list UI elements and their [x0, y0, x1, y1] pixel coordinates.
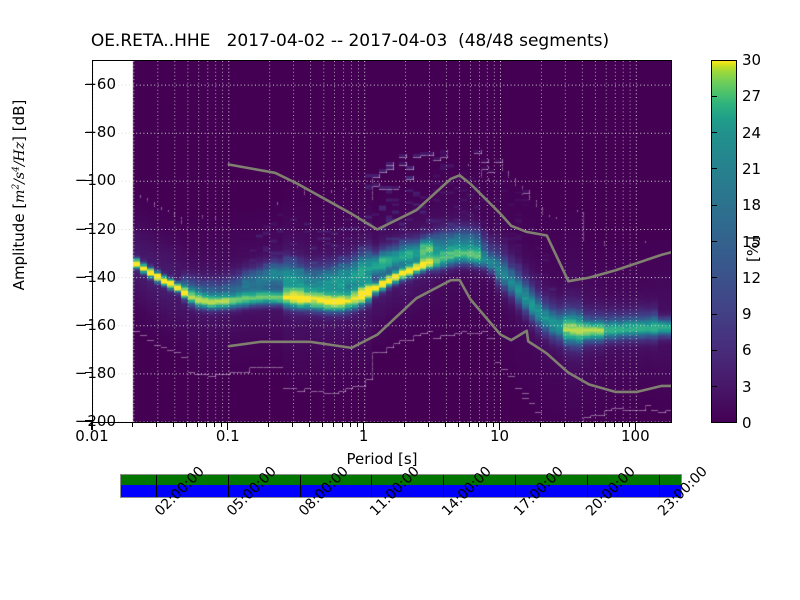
x-minor-tick-mark	[540, 423, 541, 427]
x-minor-tick-mark	[622, 423, 623, 427]
x-minor-tick-mark	[221, 423, 222, 427]
y-tick-mark	[85, 180, 92, 181]
colorbar-tick-mark	[711, 314, 717, 315]
y-tick-mark	[85, 84, 92, 85]
x-minor-tick-mark	[458, 423, 459, 427]
x-minor-tick-mark	[486, 423, 487, 427]
x-minor-tick-mark	[156, 423, 157, 427]
x-axis-label: Period [s]	[92, 450, 672, 468]
y-axis-label-units: m2/s4/Hz	[12, 142, 28, 203]
x-tick-mark	[91, 423, 92, 430]
colorbar-tick-label: 30	[742, 51, 761, 69]
y-tick-label: −120	[75, 220, 116, 238]
x-minor-tick-mark	[322, 423, 323, 427]
colorbar-tick-mark	[711, 132, 717, 133]
timeline-divider	[156, 475, 157, 497]
x-minor-tick-mark	[214, 423, 215, 427]
x-minor-tick-mark	[594, 423, 595, 427]
colorbar-tick-mark	[711, 350, 717, 351]
colorbar-tick-label: 21	[742, 160, 761, 178]
y-tick-label: −160	[75, 316, 116, 334]
timeline-divider	[659, 475, 660, 497]
x-minor-tick-mark	[605, 423, 606, 427]
y-tick-mark	[85, 420, 92, 421]
colorbar-tick-mark	[711, 168, 717, 169]
colorbar-tick-mark	[711, 277, 717, 278]
x-minor-tick-mark	[404, 423, 405, 427]
x-tick-mark	[227, 423, 228, 430]
colorbar-tick-mark	[711, 386, 717, 387]
y-tick-label: −140	[75, 268, 116, 286]
y-axis-label-prefix: Amplitude [	[10, 203, 28, 291]
x-minor-tick-mark	[445, 423, 446, 427]
y-tick-mark	[85, 324, 92, 325]
ppsd-axes	[92, 60, 672, 423]
x-tick-mark	[635, 423, 636, 430]
timeline-divider	[515, 475, 516, 497]
timeline-divider	[443, 475, 444, 497]
x-minor-tick-mark	[350, 423, 351, 427]
y-axis-label-suffix: ] [dB]	[10, 100, 28, 142]
timeline-divider	[228, 475, 229, 497]
x-minor-tick-mark	[342, 423, 343, 427]
figure-title: OE.RETA..HHE 2017-04-02 -- 2017-04-03 (4…	[0, 31, 700, 51]
timeline-divider	[587, 475, 588, 497]
colorbar-tick-label: 9	[742, 305, 752, 323]
y-tick-mark	[85, 132, 92, 133]
colorbar-tick-label: 6	[742, 341, 752, 359]
colorbar-tick-label: 24	[742, 124, 761, 142]
y-axis-label: Amplitude [m2/s4/Hz] [dB]	[10, 45, 28, 345]
x-minor-tick-mark	[309, 423, 310, 427]
timeline-divider	[300, 475, 301, 497]
colorbar-tick-mark	[711, 205, 717, 206]
x-minor-tick-mark	[469, 423, 470, 427]
ppsd-heatmap	[93, 61, 671, 422]
x-minor-tick-mark	[268, 423, 269, 427]
y-tick-mark	[85, 228, 92, 229]
x-minor-tick-mark	[132, 423, 133, 427]
x-minor-tick-mark	[629, 423, 630, 427]
x-minor-tick-mark	[186, 423, 187, 427]
x-tick-mark	[499, 423, 500, 430]
colorbar-tick-label: 27	[742, 87, 761, 105]
x-tick-mark	[363, 423, 364, 430]
colorbar-tick-mark	[711, 241, 717, 242]
x-minor-tick-mark	[614, 423, 615, 427]
x-minor-tick-mark	[173, 423, 174, 427]
y-tick-mark	[85, 372, 92, 373]
x-minor-tick-mark	[292, 423, 293, 427]
x-minor-tick-mark	[493, 423, 494, 427]
ppsd-figure: OE.RETA..HHE 2017-04-02 -- 2017-04-03 (4…	[0, 0, 800, 600]
x-minor-tick-mark	[581, 423, 582, 427]
colorbar-tick-mark	[711, 96, 717, 97]
colorbar-label: [%]	[744, 199, 762, 299]
colorbar-tick-label: 0	[742, 414, 752, 432]
timeline-divider	[371, 475, 372, 497]
x-minor-tick-mark	[197, 423, 198, 427]
y-tick-mark	[85, 276, 92, 277]
x-minor-tick-mark	[206, 423, 207, 427]
y-tick-label: −100	[75, 171, 116, 189]
colorbar-tick-label: 3	[742, 378, 752, 396]
x-minor-tick-mark	[564, 423, 565, 427]
x-minor-tick-mark	[478, 423, 479, 427]
ppsd-plot-area	[93, 61, 671, 422]
y-tick-label: −180	[75, 364, 116, 382]
x-minor-tick-mark	[357, 423, 358, 427]
x-minor-tick-mark	[333, 423, 334, 427]
x-minor-tick-mark	[428, 423, 429, 427]
